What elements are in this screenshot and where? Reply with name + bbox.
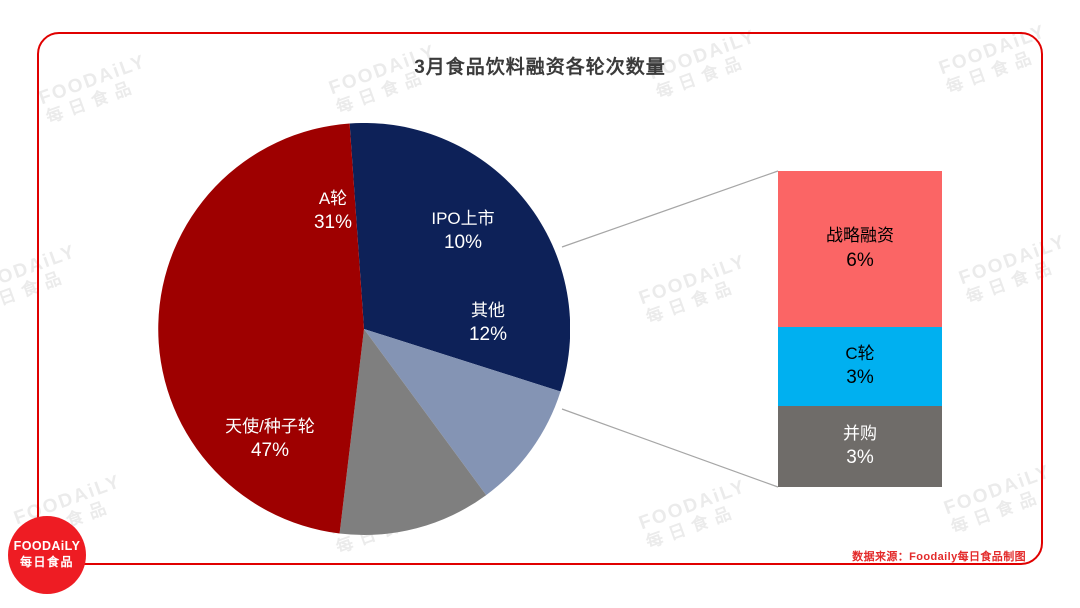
bar-segment-c-round-label: C轮	[845, 343, 874, 365]
bar-segment-merger-label: 并购	[843, 423, 877, 445]
breakout-stacked-bar: 战略融资 6% C轮 3% 并购 3%	[778, 171, 942, 487]
pie-label-angel-seed: 天使/种子轮 47%	[180, 416, 360, 464]
bar-segment-merger-value: 3%	[846, 445, 873, 470]
logo-en-text: FOODAiLY	[14, 540, 81, 554]
pie-label-other-value: 12%	[443, 322, 533, 347]
foodaily-logo: FOODAiLY 每日食品	[8, 516, 86, 594]
pie-label-a-round-value: 31%	[273, 210, 393, 235]
bar-segment-strategic[interactable]: 战略融资 6%	[778, 171, 942, 327]
pie-label-ipo-text: IPO上市	[431, 209, 494, 228]
pie-label-other-text: 其他	[471, 301, 505, 320]
logo-cn-text: 每日食品	[20, 555, 74, 570]
pie-label-a-round: A轮 31%	[273, 188, 393, 236]
bar-segment-c-round-value: 3%	[846, 365, 873, 390]
bar-segment-strategic-value: 6%	[846, 248, 873, 273]
bar-segment-strategic-label: 战略融资	[826, 225, 894, 247]
bar-segment-c-round[interactable]: C轮 3%	[778, 327, 942, 406]
pie-label-ipo: IPO上市 10%	[408, 208, 518, 256]
pie-label-a-round-text: A轮	[319, 189, 347, 208]
pie-label-angel-seed-text: 天使/种子轮	[225, 417, 315, 436]
bar-segment-merger[interactable]: 并购 3%	[778, 406, 942, 487]
pie-label-other: 其他 12%	[443, 300, 533, 348]
source-note: 数据来源：Foodaily每日食品制图	[852, 548, 1026, 564]
pie-slice-angel-seed[interactable]	[158, 124, 364, 534]
page-title: 3月食品饮料融资各轮次数量	[0, 52, 1080, 79]
pie-label-ipo-value: 10%	[408, 230, 518, 255]
pie-chart: A轮 31% IPO上市 10% 其他 12% 天使/种子轮 47%	[158, 123, 570, 535]
pie-label-angel-seed-value: 47%	[180, 438, 360, 463]
